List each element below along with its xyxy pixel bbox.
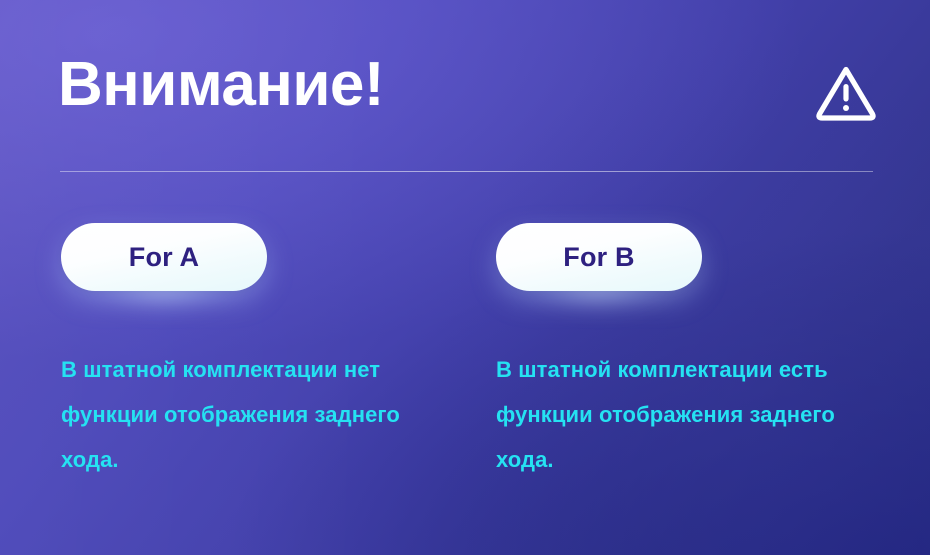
pill-button-for-b[interactable]: For B bbox=[496, 223, 702, 291]
column-for-b: For B В штатной комплектации есть функци… bbox=[496, 223, 906, 482]
page-title: Внимание! bbox=[58, 52, 384, 117]
warning-triangle-icon bbox=[814, 62, 878, 124]
pill-button-for-a[interactable]: For A bbox=[61, 223, 267, 291]
pill-wrapper-b: For B bbox=[496, 223, 702, 291]
header-divider bbox=[60, 171, 873, 172]
pill-wrapper-a: For A bbox=[61, 223, 267, 291]
column-for-a: For A В штатной комплектации нет функции… bbox=[61, 223, 471, 482]
slide-root: Внимание! For A В штатной комплектации н… bbox=[0, 0, 930, 555]
body-text-for-b: В штатной комплектации есть функции отоб… bbox=[496, 347, 886, 482]
body-text-for-a: В штатной комплектации нет функции отобр… bbox=[61, 347, 446, 482]
